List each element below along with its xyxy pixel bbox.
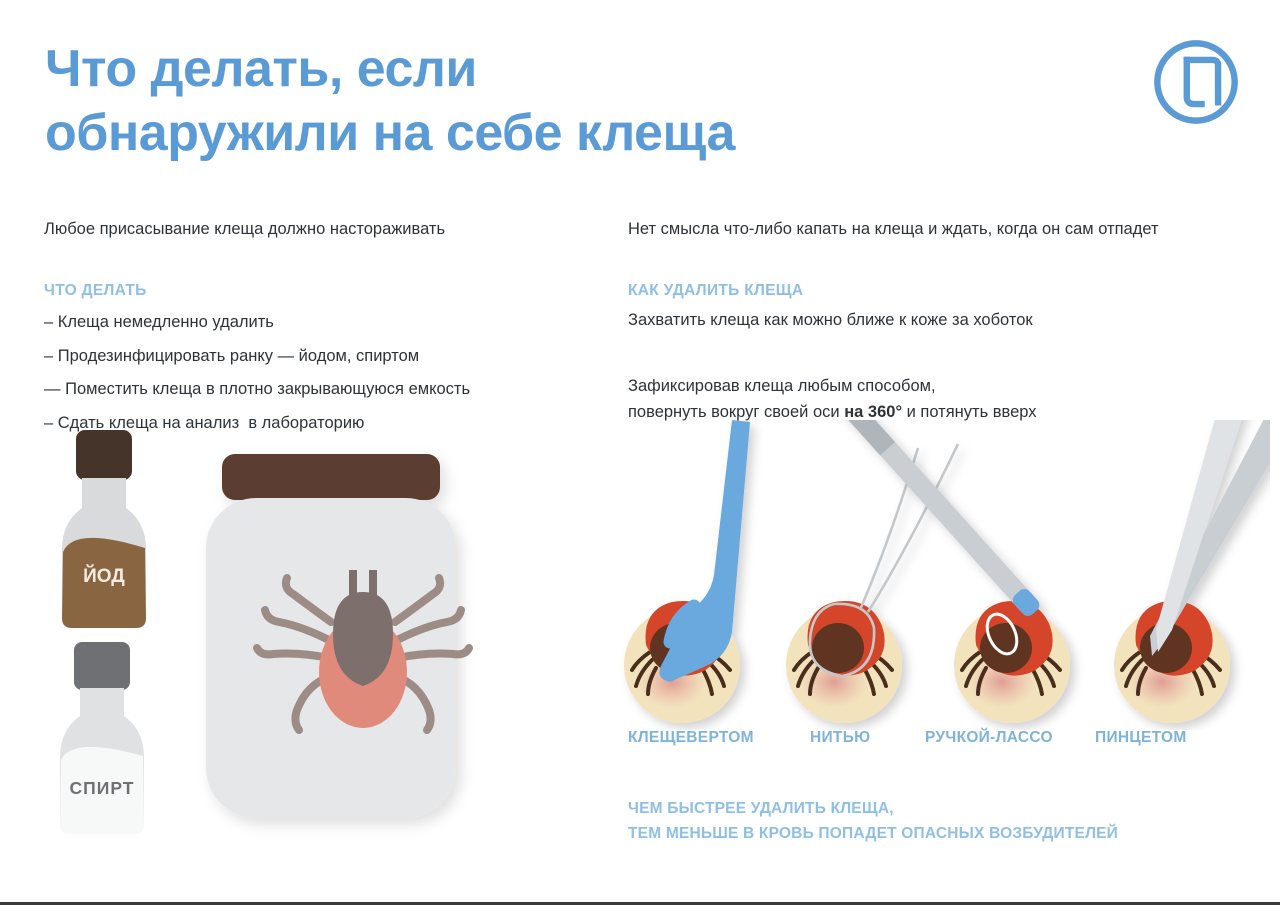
left-column: Любое присасывание клеща должно настораж…	[44, 218, 584, 448]
rotate-instruction: Зафиксировав клеща любым способом, повер…	[628, 373, 1248, 426]
rotate-line-2-pre: повернуть вокруг своей оси	[628, 403, 844, 421]
alcohol-bottle-icon: СПИРТ	[60, 642, 144, 834]
method-captions-row: КЛЕЩЕВЕРТОМ НИТЬЮ РУЧКОЙ-ЛАССО ПИНЦЕТОМ	[620, 729, 1240, 751]
bottom-emphasis-note: ЧЕМ БЫСТРЕЕ УДАЛИТЬ КЛЕЩА, ТЕМ МЕНЬШЕ В …	[628, 797, 1118, 847]
rotate-line-1: Зафиксировав клеща любым способом,	[628, 377, 936, 395]
caption-thread: НИТЬЮ	[810, 729, 870, 747]
list-item: – Клеща немедленно удалить	[44, 314, 584, 331]
left-lead-text: Любое присасывание клеща должно настораж…	[44, 218, 584, 240]
svg-text:СПИРТ: СПИРТ	[70, 778, 135, 798]
svg-text:ЙОД: ЙОД	[83, 565, 125, 587]
right-column: Нет смысла что-либо капать на клеща и жд…	[628, 218, 1248, 426]
left-section-heading: ЧТО ДЕЛАТЬ	[44, 282, 584, 300]
page-title: Что делать, если обнаружили на себе клещ…	[45, 38, 1045, 166]
iodine-bottle-icon: ЙОД	[62, 430, 146, 628]
tweezers-illustration	[1114, 420, 1270, 723]
caption-tick-twister: КЛЕЩЕВЕРТОМ	[628, 729, 754, 747]
removal-methods-illustration-group	[610, 420, 1270, 730]
grab-instruction-text: Захватить клеща как можно ближе к коже з…	[628, 312, 1248, 329]
caption-tweezers: ПИНЦЕТОМ	[1095, 729, 1187, 747]
list-item: — Поместить клеща в плотно закрывающуюся…	[44, 381, 584, 398]
rotate-degrees: на 360°	[844, 403, 902, 421]
organization-logo	[1150, 36, 1242, 128]
left-illustration-group: ЙОД СПИРТ	[44, 430, 564, 850]
list-item: – Сдать клеща на анализ в лабораторию	[44, 415, 584, 432]
what-to-do-list: – Клеща немедленно удалить – Продезинфиц…	[44, 314, 584, 431]
right-lead-text: Нет смысла что-либо капать на клеща и жд…	[628, 218, 1248, 240]
caption-lasso-pen: РУЧКОЙ-ЛАССО	[925, 729, 1053, 747]
tick-twister-illustration	[624, 420, 750, 723]
rotate-line-2-post: и потянуть вверх	[902, 403, 1037, 421]
list-item: – Продезинфицировать ранку — йодом, спир…	[44, 348, 584, 365]
infographic-page: Что делать, если обнаружили на себе клещ…	[0, 0, 1280, 905]
right-section-heading: КАК УДАЛИТЬ КЛЕЩА	[628, 282, 1248, 300]
